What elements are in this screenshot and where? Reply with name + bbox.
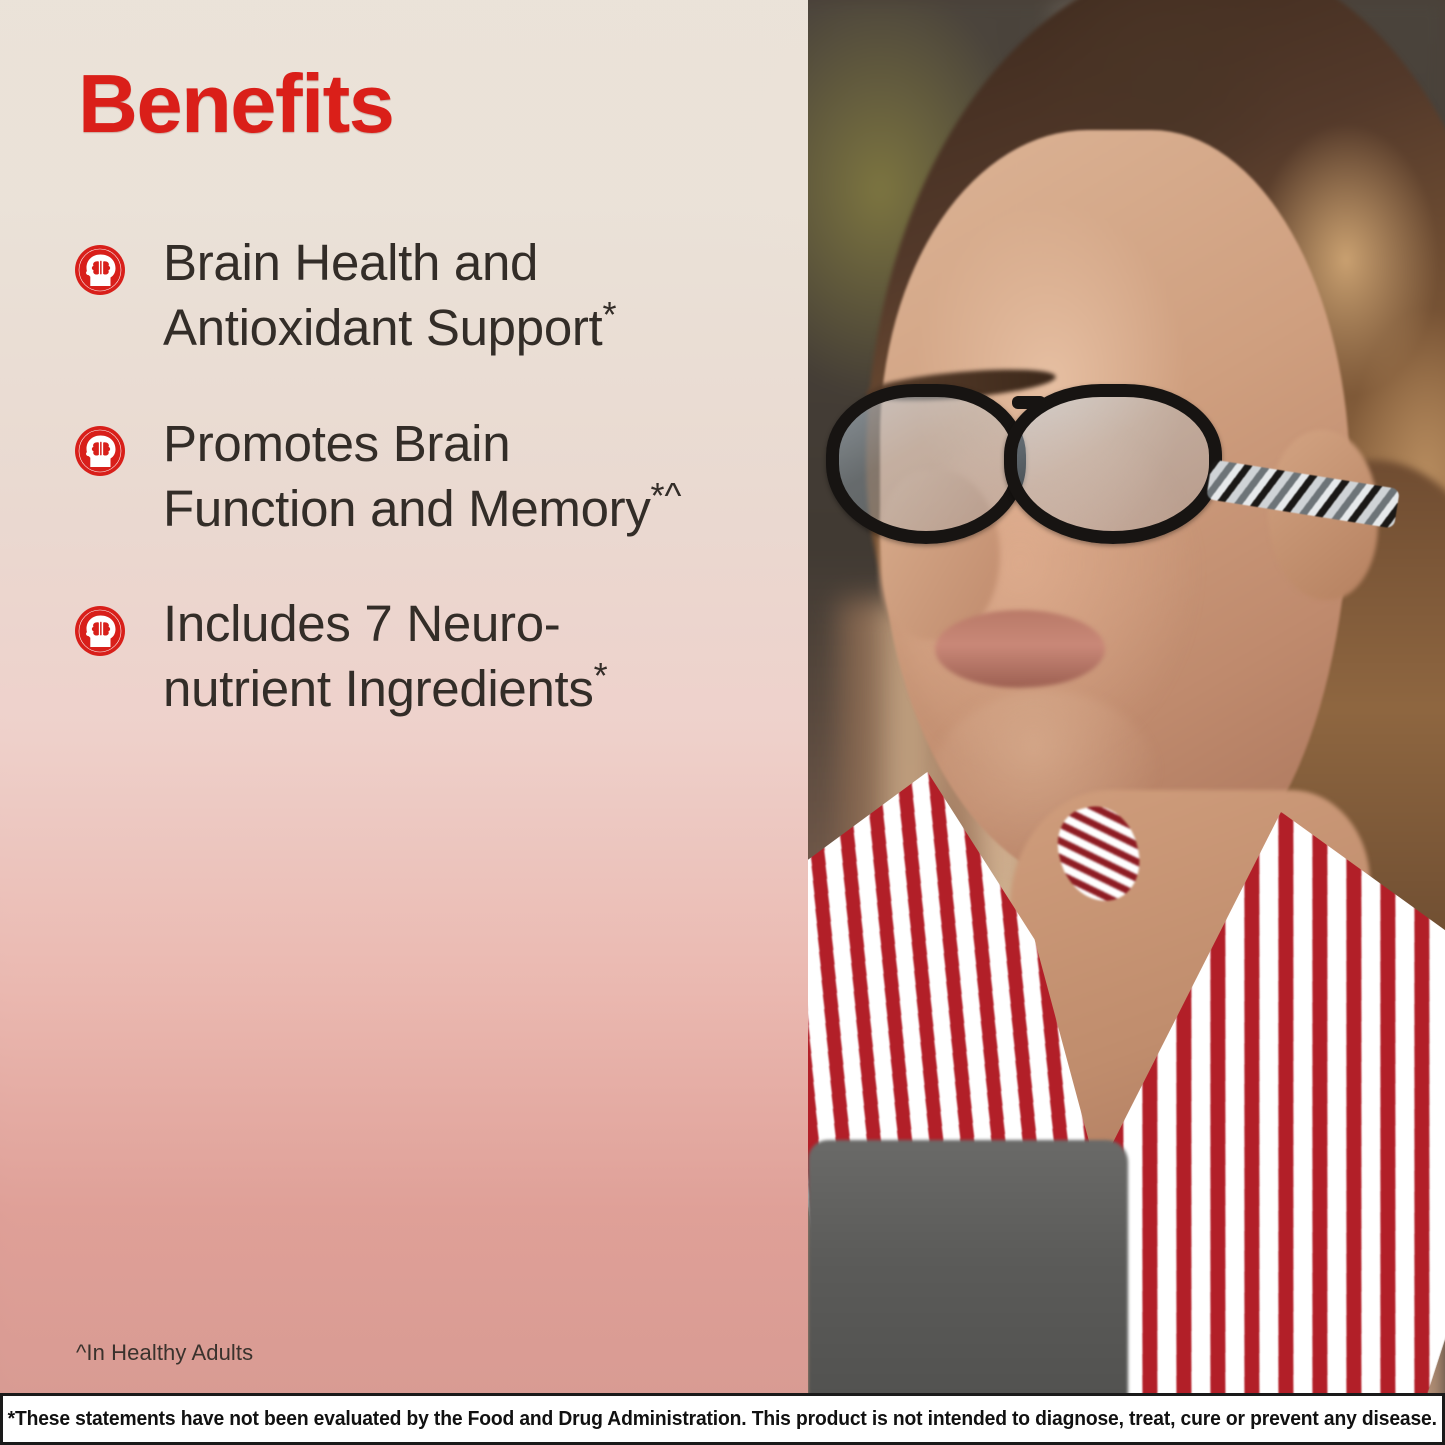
- footnote-marker: *^: [651, 475, 682, 516]
- fda-disclaimer-bar: *These statements have not been evaluate…: [0, 1393, 1445, 1445]
- list-item: Brain Health and Antioxidant Support*: [74, 230, 734, 361]
- eyeglasses-icon: [826, 378, 1326, 568]
- eyeglass-bridge: [1012, 396, 1046, 409]
- list-item-label: Includes 7 Neuro-nutrient Ingredients*: [163, 591, 683, 722]
- fda-disclaimer-text: *These statements have not been evaluate…: [8, 1407, 1437, 1431]
- footnote-marker: *: [602, 294, 616, 335]
- benefits-infographic: Benefits Brain: [0, 0, 1445, 1445]
- brain-head-icon: [74, 425, 126, 477]
- eyeglass-lens-left: [826, 384, 1026, 544]
- brain-head-icon: [74, 244, 126, 296]
- content-column: Benefits Brain: [0, 0, 808, 1445]
- list-item-label: Promotes Brain Function and Memory*^: [163, 411, 683, 542]
- page-title: Benefits: [78, 62, 393, 145]
- list-item: Promotes Brain Function and Memory*^: [74, 411, 734, 542]
- list-item: Includes 7 Neuro-nutrient Ingredients*: [74, 591, 734, 722]
- footnote-marker: *: [594, 655, 608, 696]
- list-item-label: Brain Health and Antioxidant Support*: [163, 230, 683, 361]
- subject-lips: [935, 610, 1105, 688]
- shirt-knot: [1050, 798, 1149, 910]
- healthy-adults-footnote: ^In Healthy Adults: [76, 1340, 253, 1366]
- brain-head-icon: [74, 605, 126, 657]
- benefits-list: Brain Health and Antioxidant Support*: [74, 230, 734, 772]
